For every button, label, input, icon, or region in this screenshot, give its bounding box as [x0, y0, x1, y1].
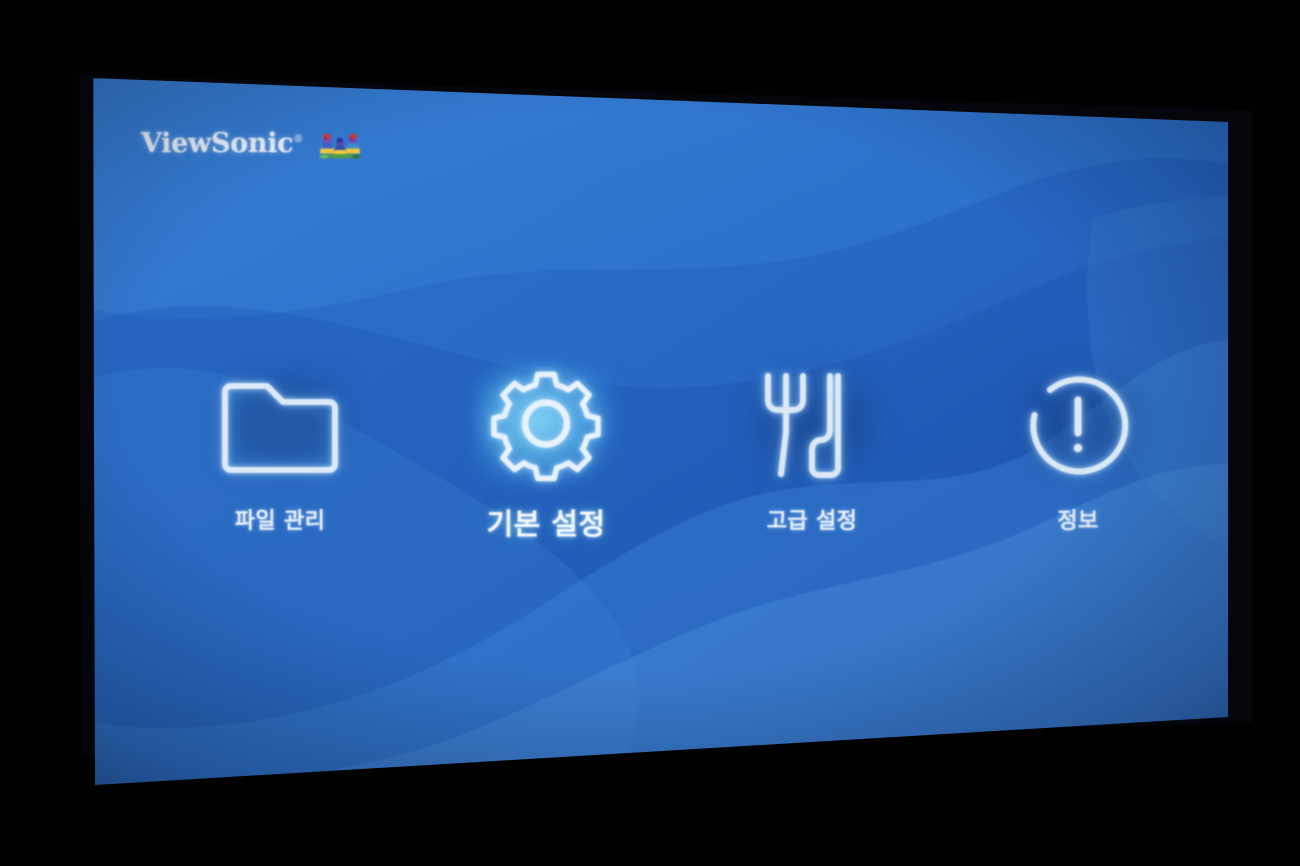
viewsonic-logo: ViewSonic®	[141, 126, 367, 160]
menu-item-advanced-settings[interactable]: 고급 설정	[728, 363, 896, 535]
information-icon-box	[1008, 363, 1148, 489]
projector-photo-scene: ViewSonic®	[0, 0, 1300, 866]
menu-item-information[interactable]: 정보	[994, 363, 1162, 535]
menu-item-label: 고급 설정	[767, 503, 858, 535]
menu-item-label: 정보	[1057, 503, 1098, 535]
brand-wordmark: ViewSonic®	[141, 128, 303, 159]
menu-item-file-management[interactable]: 파일 관리	[196, 363, 364, 535]
cutlery-tools-icon	[759, 370, 865, 482]
advanced-settings-icon-box	[742, 363, 882, 489]
projected-screen: ViewSonic®	[0, 0, 1300, 866]
menu-item-label: 파일 관리	[235, 503, 326, 535]
gouldian-finches-icon	[313, 126, 367, 160]
info-exclamation-icon	[1022, 370, 1134, 482]
menu-item-basic-settings[interactable]: 기본 설정	[462, 363, 630, 543]
menu-item-label: 기본 설정	[487, 501, 606, 543]
gear-icon	[482, 362, 610, 490]
folder-icon	[217, 376, 343, 476]
home-menu: 파일 관리 기본 설정	[93, 363, 1247, 543]
basic-settings-icon-box	[476, 363, 616, 489]
file-management-icon-box	[210, 363, 350, 489]
osd-home-screen: ViewSonic®	[93, 78, 1229, 786]
registered-mark-icon: ®	[293, 134, 303, 145]
brand-name: ViewSonic	[141, 128, 293, 159]
